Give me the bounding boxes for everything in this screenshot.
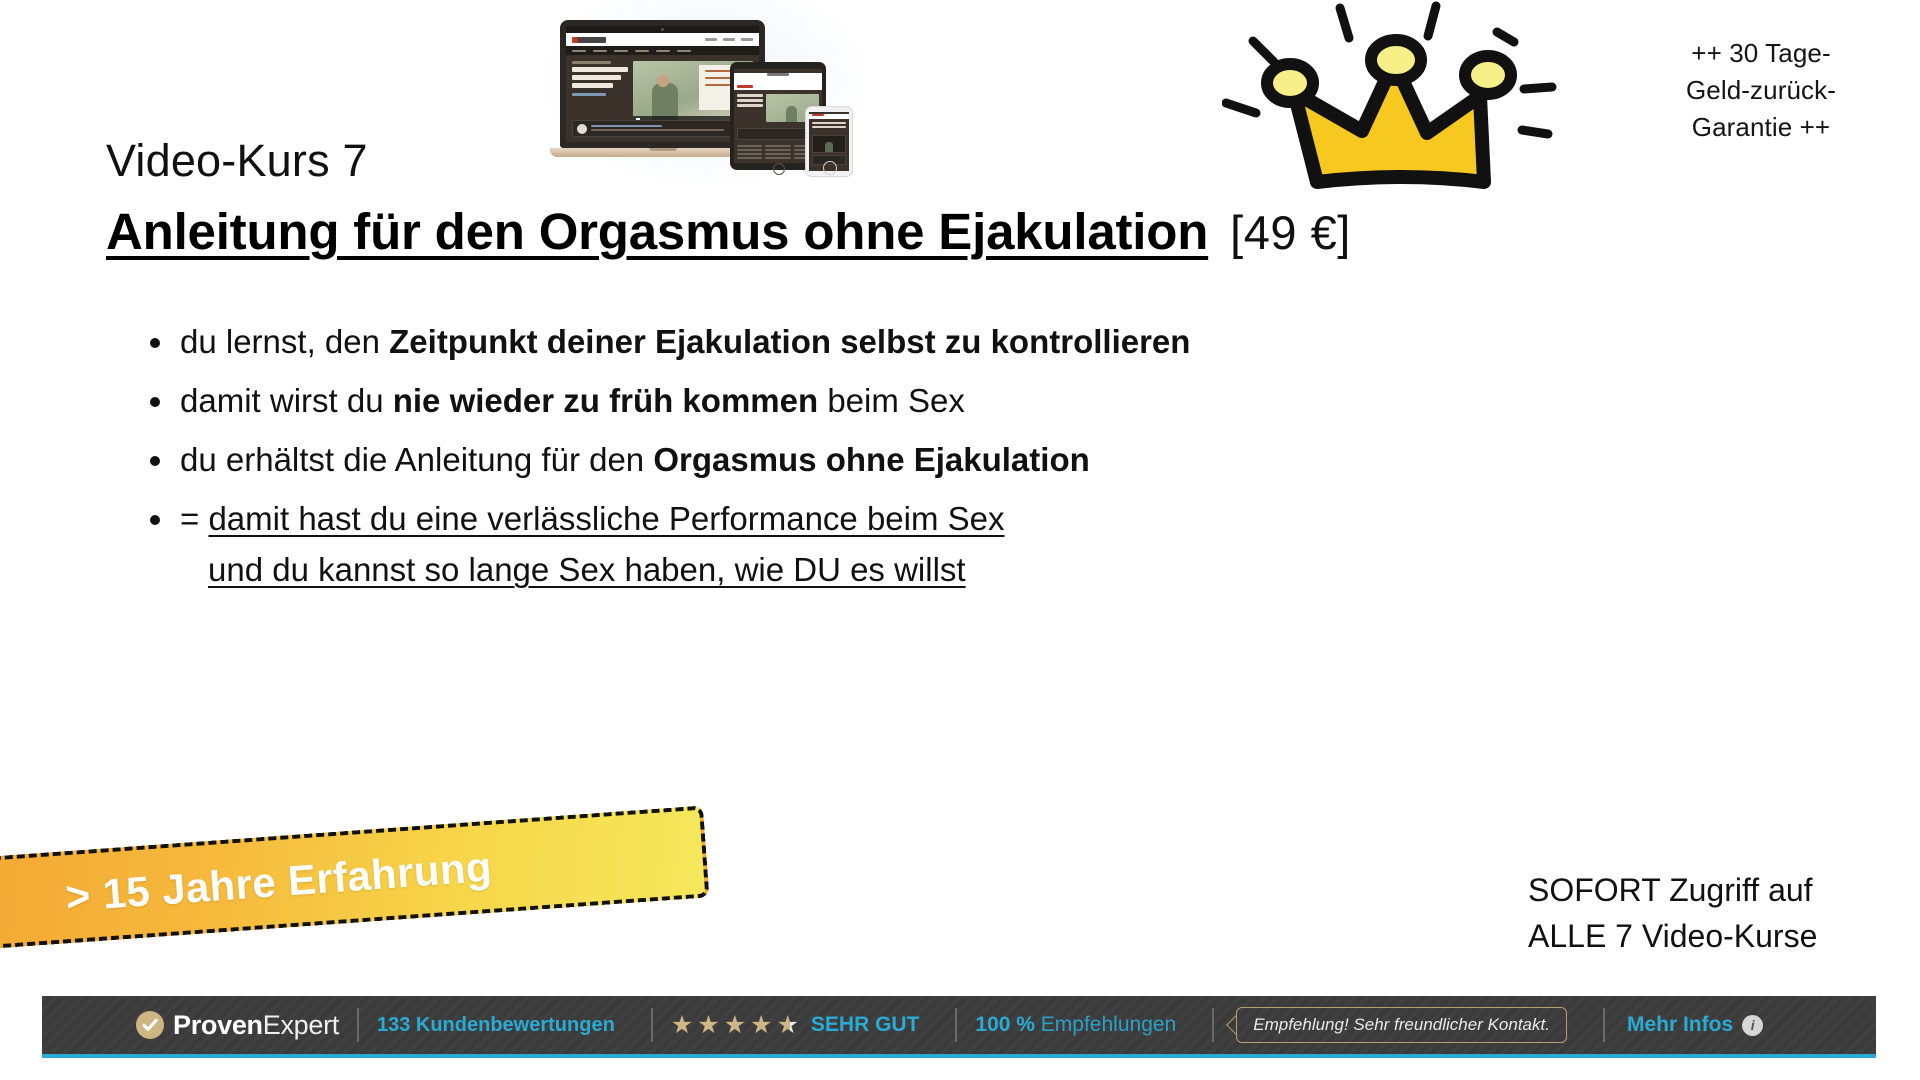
divider (651, 1008, 653, 1042)
phone-home-button (823, 161, 837, 175)
tablet-home-button (773, 163, 785, 175)
review-count-label[interactable]: 133 Kundenbewertungen (377, 1014, 615, 1037)
divider (955, 1008, 957, 1042)
benefit-text: beim Sex (818, 382, 965, 419)
more-info-label: Mehr Infos (1627, 1013, 1733, 1037)
more-info-segment[interactable]: Mehr Infos i (1585, 996, 1781, 1054)
site-text-column (572, 61, 628, 123)
benefit-emphasis: nie wieder zu früh kommen (393, 382, 818, 419)
recommendation-value: 100 % (975, 1013, 1035, 1036)
author-avatar (577, 124, 587, 134)
experience-badge-label: > 15 Jahre Erfahrung (0, 805, 709, 948)
page-title: Anleitung für den Orgasmus ohne Ejakulat… (106, 202, 1208, 261)
course-kicker: Video-Kurs 7 (106, 135, 368, 187)
benefit-emphasis: Orgasmus ohne Ejakulation (653, 441, 1089, 478)
more-info-link[interactable]: Mehr Infos i (1627, 1013, 1763, 1037)
testimonial-segment[interactable]: Empfehlung! Sehr freundlicher Kontakt. (1194, 996, 1585, 1054)
benefit-underlined-continued: und du kannst so lange Sex haben, wie DU… (208, 551, 966, 588)
site-author-card (572, 120, 753, 137)
benefit-text: = (180, 500, 208, 537)
benefit-item: du erhältst die Anleitung für den Orgasm… (180, 443, 1660, 476)
tablet-topbar (734, 73, 822, 83)
benefit-text: du lernst, den (180, 323, 389, 360)
headline-row: Anleitung für den Orgasmus ohne Ejakulat… (106, 202, 1351, 261)
star-icon-full: ★ (750, 1013, 772, 1038)
experience-badge: > 15 Jahre Erfahrung (0, 805, 709, 948)
tablet-text-column (737, 94, 763, 122)
guarantee-line-2: Geld-zurück- (1630, 72, 1892, 109)
rating-label: SEHR GUT (811, 1013, 920, 1037)
crown-icon (1222, 0, 1582, 195)
instant-access-text: SOFORT Zugriff auf ALLE 7 Video-Kurse (1528, 867, 1888, 960)
brand-expert: Expert (263, 1010, 339, 1040)
money-back-guarantee-text: ++ 30 Tage- Geld-zurück- Garantie ++ (1630, 35, 1892, 146)
guarantee-line-1: ++ 30 Tage- (1630, 35, 1892, 72)
guarantee-line-3: Garantie ++ (1630, 109, 1892, 146)
device-mockup-image (560, 2, 850, 177)
instant-access-line-1: SOFORT Zugriff auf (1528, 867, 1888, 913)
laptop-camera-icon (661, 28, 664, 31)
proven-expert-widget[interactable]: ProvenExpert 133 Kundenbewertungen ★★★★★… (42, 996, 1876, 1058)
benefit-item: damit wirst du nie wieder zu früh kommen… (180, 384, 1660, 417)
recommendation-label: Empfehlungen (1041, 1013, 1176, 1036)
recommendation-segment[interactable]: 100 % Empfehlungen (937, 996, 1194, 1054)
site-menu-bar (566, 46, 759, 55)
star-icon-full: ★ (671, 1013, 693, 1038)
site-nav-links (705, 38, 753, 41)
reviews-segment[interactable]: 133 Kundenbewertungen (339, 996, 633, 1054)
benefit-text: damit wirst du (180, 382, 393, 419)
divider (1603, 1008, 1605, 1042)
instant-access-line-2: ALLE 7 Video-Kurse (1528, 913, 1888, 959)
verified-check-icon (136, 1011, 164, 1039)
tablet-logo-bar (734, 83, 822, 90)
proven-expert-brand: ProvenExpert (173, 1010, 339, 1041)
star-icon-full: ★ (697, 1013, 719, 1038)
proven-expert-logo[interactable]: ProvenExpert (136, 1010, 339, 1041)
phone-mockup (805, 106, 853, 177)
site-logo-icon (572, 37, 606, 43)
info-icon[interactable]: i (1742, 1015, 1763, 1036)
brand-proven: Proven (173, 1010, 263, 1040)
benefit-underlined: damit hast du eine verlässliche Performa… (208, 500, 1004, 537)
benefit-item: = damit hast du eine verlässliche Perfor… (180, 502, 1660, 586)
recommendation-rate: 100 % Empfehlungen (975, 1013, 1176, 1037)
rating-segment[interactable]: ★★★★★ SEHR GUT (633, 996, 938, 1054)
divider (357, 1008, 359, 1042)
author-lines (591, 125, 748, 133)
star-rating: ★★★★★ (671, 1013, 799, 1038)
proven-expert-bar[interactable]: ProvenExpert 133 Kundenbewertungen ★★★★★… (42, 996, 1876, 1058)
phone-video (812, 135, 846, 153)
testimonial-quote: Empfehlung! Sehr freundlicher Kontakt. (1236, 1007, 1567, 1043)
slide-root: ++ 30 Tage- Geld-zurück- Garantie ++ Vid… (0, 0, 1920, 1080)
star-icon-partial: ★ (776, 1013, 798, 1038)
benefit-emphasis: Zeitpunkt deiner Ejakulation selbst zu k… (389, 323, 1190, 360)
star-icon-full: ★ (724, 1013, 746, 1038)
benefit-continuation: und du kannst so lange Sex haben, wie DU… (180, 553, 1660, 586)
price-label: [49 €] (1230, 205, 1351, 260)
site-navbar (566, 33, 759, 46)
benefits-list: du lernst, den Zeitpunkt deiner Ejakulat… (132, 325, 1660, 612)
presenter-head (657, 75, 669, 87)
divider (1212, 1008, 1214, 1042)
benefit-item: du lernst, den Zeitpunkt deiner Ejakulat… (180, 325, 1660, 358)
benefit-text: du erhältst die Anleitung für den (180, 441, 653, 478)
phone-text (809, 119, 849, 133)
